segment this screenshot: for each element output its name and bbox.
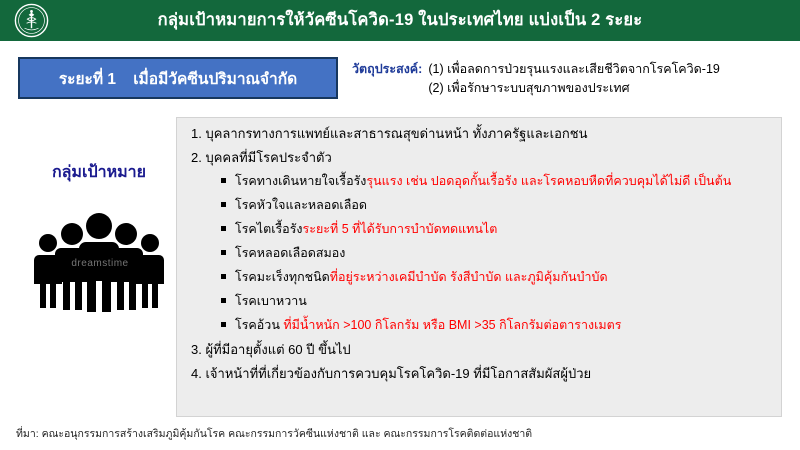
group-of-people-icon — [28, 212, 170, 312]
condition-text: โรคหัวใจและหลอดเลือด — [235, 198, 367, 212]
square-bullet-icon — [221, 178, 226, 183]
condition-highlight: รุนแรง เช่น ปอดอุดกั้นเรื้อรัง และโรคหอบ… — [366, 174, 731, 188]
list-item: โรคเบาหวาน — [221, 293, 771, 309]
page-title: กลุ่มเป้าหมายการให้วัคซีนโควิด-19 ในประเ… — [0, 0, 800, 41]
list-item-4: 4. เจ้าหน้าที่ที่เกี่ยวข้องกับการควบคุมโ… — [191, 365, 771, 382]
square-bullet-icon — [221, 322, 226, 327]
condition-highlight: ที่มีน้ำหนัก >100 กิโลกรัม หรือ BMI >35 … — [283, 318, 621, 332]
source-note: ที่มา: คณะอนุกรรมการสร้างเสริมภูมิคุ้มกั… — [16, 425, 532, 442]
list-item-1: 1. บุคลากรทางการแพทย์และสาธารณสุขด่านหน้… — [191, 125, 771, 142]
phase-1-banner: ระยะที่ 1 เมื่อมีวัคซีนปริมาณจำกัด — [18, 57, 338, 99]
objectives-label: วัตถุประสงค์: — [352, 60, 422, 79]
square-bullet-icon — [221, 226, 226, 231]
condition-highlight: ระยะที่ 5 ที่ได้รับการบำบัดทดแทนไต — [303, 222, 498, 236]
condition-text: โรคไตเรื้อรัง — [235, 222, 303, 236]
objective-item-2: (2) เพื่อรักษาระบบสุขภาพของประเทศ — [428, 79, 629, 98]
condition-text: โรคมะเร็งทุกชนิด — [235, 270, 330, 284]
square-bullet-icon — [221, 202, 226, 207]
page-header: กลุ่มเป้าหมายการให้วัคซีนโควิด-19 ในประเ… — [0, 0, 800, 41]
target-group-content-panel: 1. บุคลากรทางการแพทย์และสาธารณสุขด่านหน้… — [176, 117, 782, 417]
list-item: โรคหลอดเลือดสมอง — [221, 245, 771, 261]
list-item-2: 2. บุคคลที่มีโรคประจำตัว — [191, 149, 771, 166]
chronic-disease-list: โรคทางเดินหายใจเรื้อรังรุนแรง เช่น ปอดอุ… — [187, 173, 771, 333]
objective-row-1: วัตถุประสงค์: (1) เพื่อลดการป่วยรุนแรงแล… — [352, 60, 792, 79]
target-group-label: กลุ่มเป้าหมาย — [24, 160, 174, 185]
list-item: โรคไตเรื้อรังระยะที่ 5 ที่ได้รับการบำบัด… — [221, 221, 771, 237]
list-item: โรคมะเร็งทุกชนิดที่อยู่ระหว่างเคมีบำบัด … — [221, 269, 771, 285]
objectives-block: วัตถุประสงค์: (1) เพื่อลดการป่วยรุนแรงแล… — [352, 60, 792, 98]
list-item: โรคหัวใจและหลอดเลือด — [221, 197, 771, 213]
list-item: โรคอ้วน ที่มีน้ำหนัก >100 กิโลกรัม หรือ … — [221, 317, 771, 333]
square-bullet-icon — [221, 250, 226, 255]
list-item: โรคทางเดินหายใจเรื้อรังรุนแรง เช่น ปอดอุ… — [221, 173, 771, 189]
condition-highlight: ที่อยู่ระหว่างเคมีบำบัด รังสีบำบัด และภู… — [330, 270, 608, 284]
condition-text: โรคหลอดเลือดสมอง — [235, 246, 345, 260]
condition-text: โรคอ้วน — [235, 318, 283, 332]
objective-item-1: (1) เพื่อลดการป่วยรุนแรงและเสียชีวิตจากโ… — [428, 60, 720, 79]
objective-row-2: วัตถุประสงค์: (2) เพื่อรักษาระบบสุขภาพขอ… — [352, 79, 792, 98]
square-bullet-icon — [221, 298, 226, 303]
phase-1-banner-label: ระยะที่ 1 เมื่อมีวัคซีนปริมาณจำกัด — [59, 66, 297, 91]
condition-text: โรคทางเดินหายใจเรื้อรัง — [235, 174, 366, 188]
square-bullet-icon — [221, 274, 226, 279]
ministry-of-public-health-emblem-icon — [14, 3, 49, 38]
condition-text: โรคเบาหวาน — [235, 294, 307, 308]
list-item-3: 3. ผู้ที่มีอายุตั้งแต่ 60 ปี ขึ้นไป — [191, 341, 771, 358]
